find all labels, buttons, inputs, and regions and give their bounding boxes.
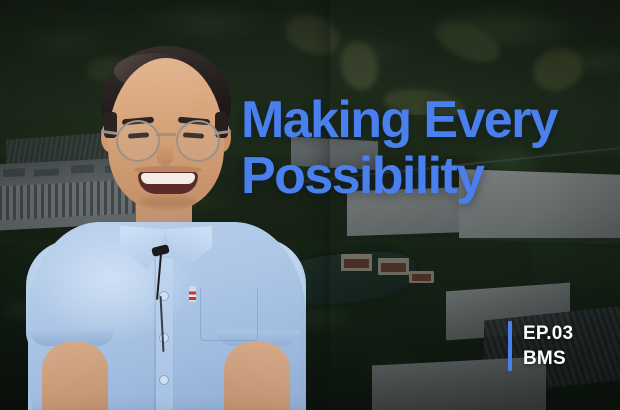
headline-line-1: Making Every: [241, 91, 557, 149]
headline-text: Making Every Possibility: [241, 92, 581, 204]
presenter-photo: [0, 0, 330, 410]
teeth: [141, 173, 195, 184]
glasses-lens-left: [116, 120, 160, 162]
arm-left: [42, 342, 108, 410]
episode-badge: EP.03 BMS: [508, 321, 573, 371]
shirt-button: [160, 376, 168, 384]
shirt-pocket: [200, 288, 258, 341]
glasses-lens-right: [176, 120, 220, 162]
episode-topic: BMS: [523, 346, 573, 371]
headline-line-2: Possibility: [241, 148, 581, 204]
arm-right: [224, 342, 290, 410]
chin-shadow: [140, 196, 196, 208]
episode-number: EP.03: [523, 321, 573, 346]
accent-bar: [508, 321, 512, 371]
nose: [157, 142, 173, 166]
glasses-bridge: [156, 133, 176, 136]
episode-label-group: EP.03 BMS: [523, 321, 573, 371]
shirt-brand-tag: [189, 286, 196, 302]
video-thumbnail-banner: Making Every Possibility EP.03 BMS: [0, 0, 620, 410]
smiling-mouth: [138, 172, 198, 194]
